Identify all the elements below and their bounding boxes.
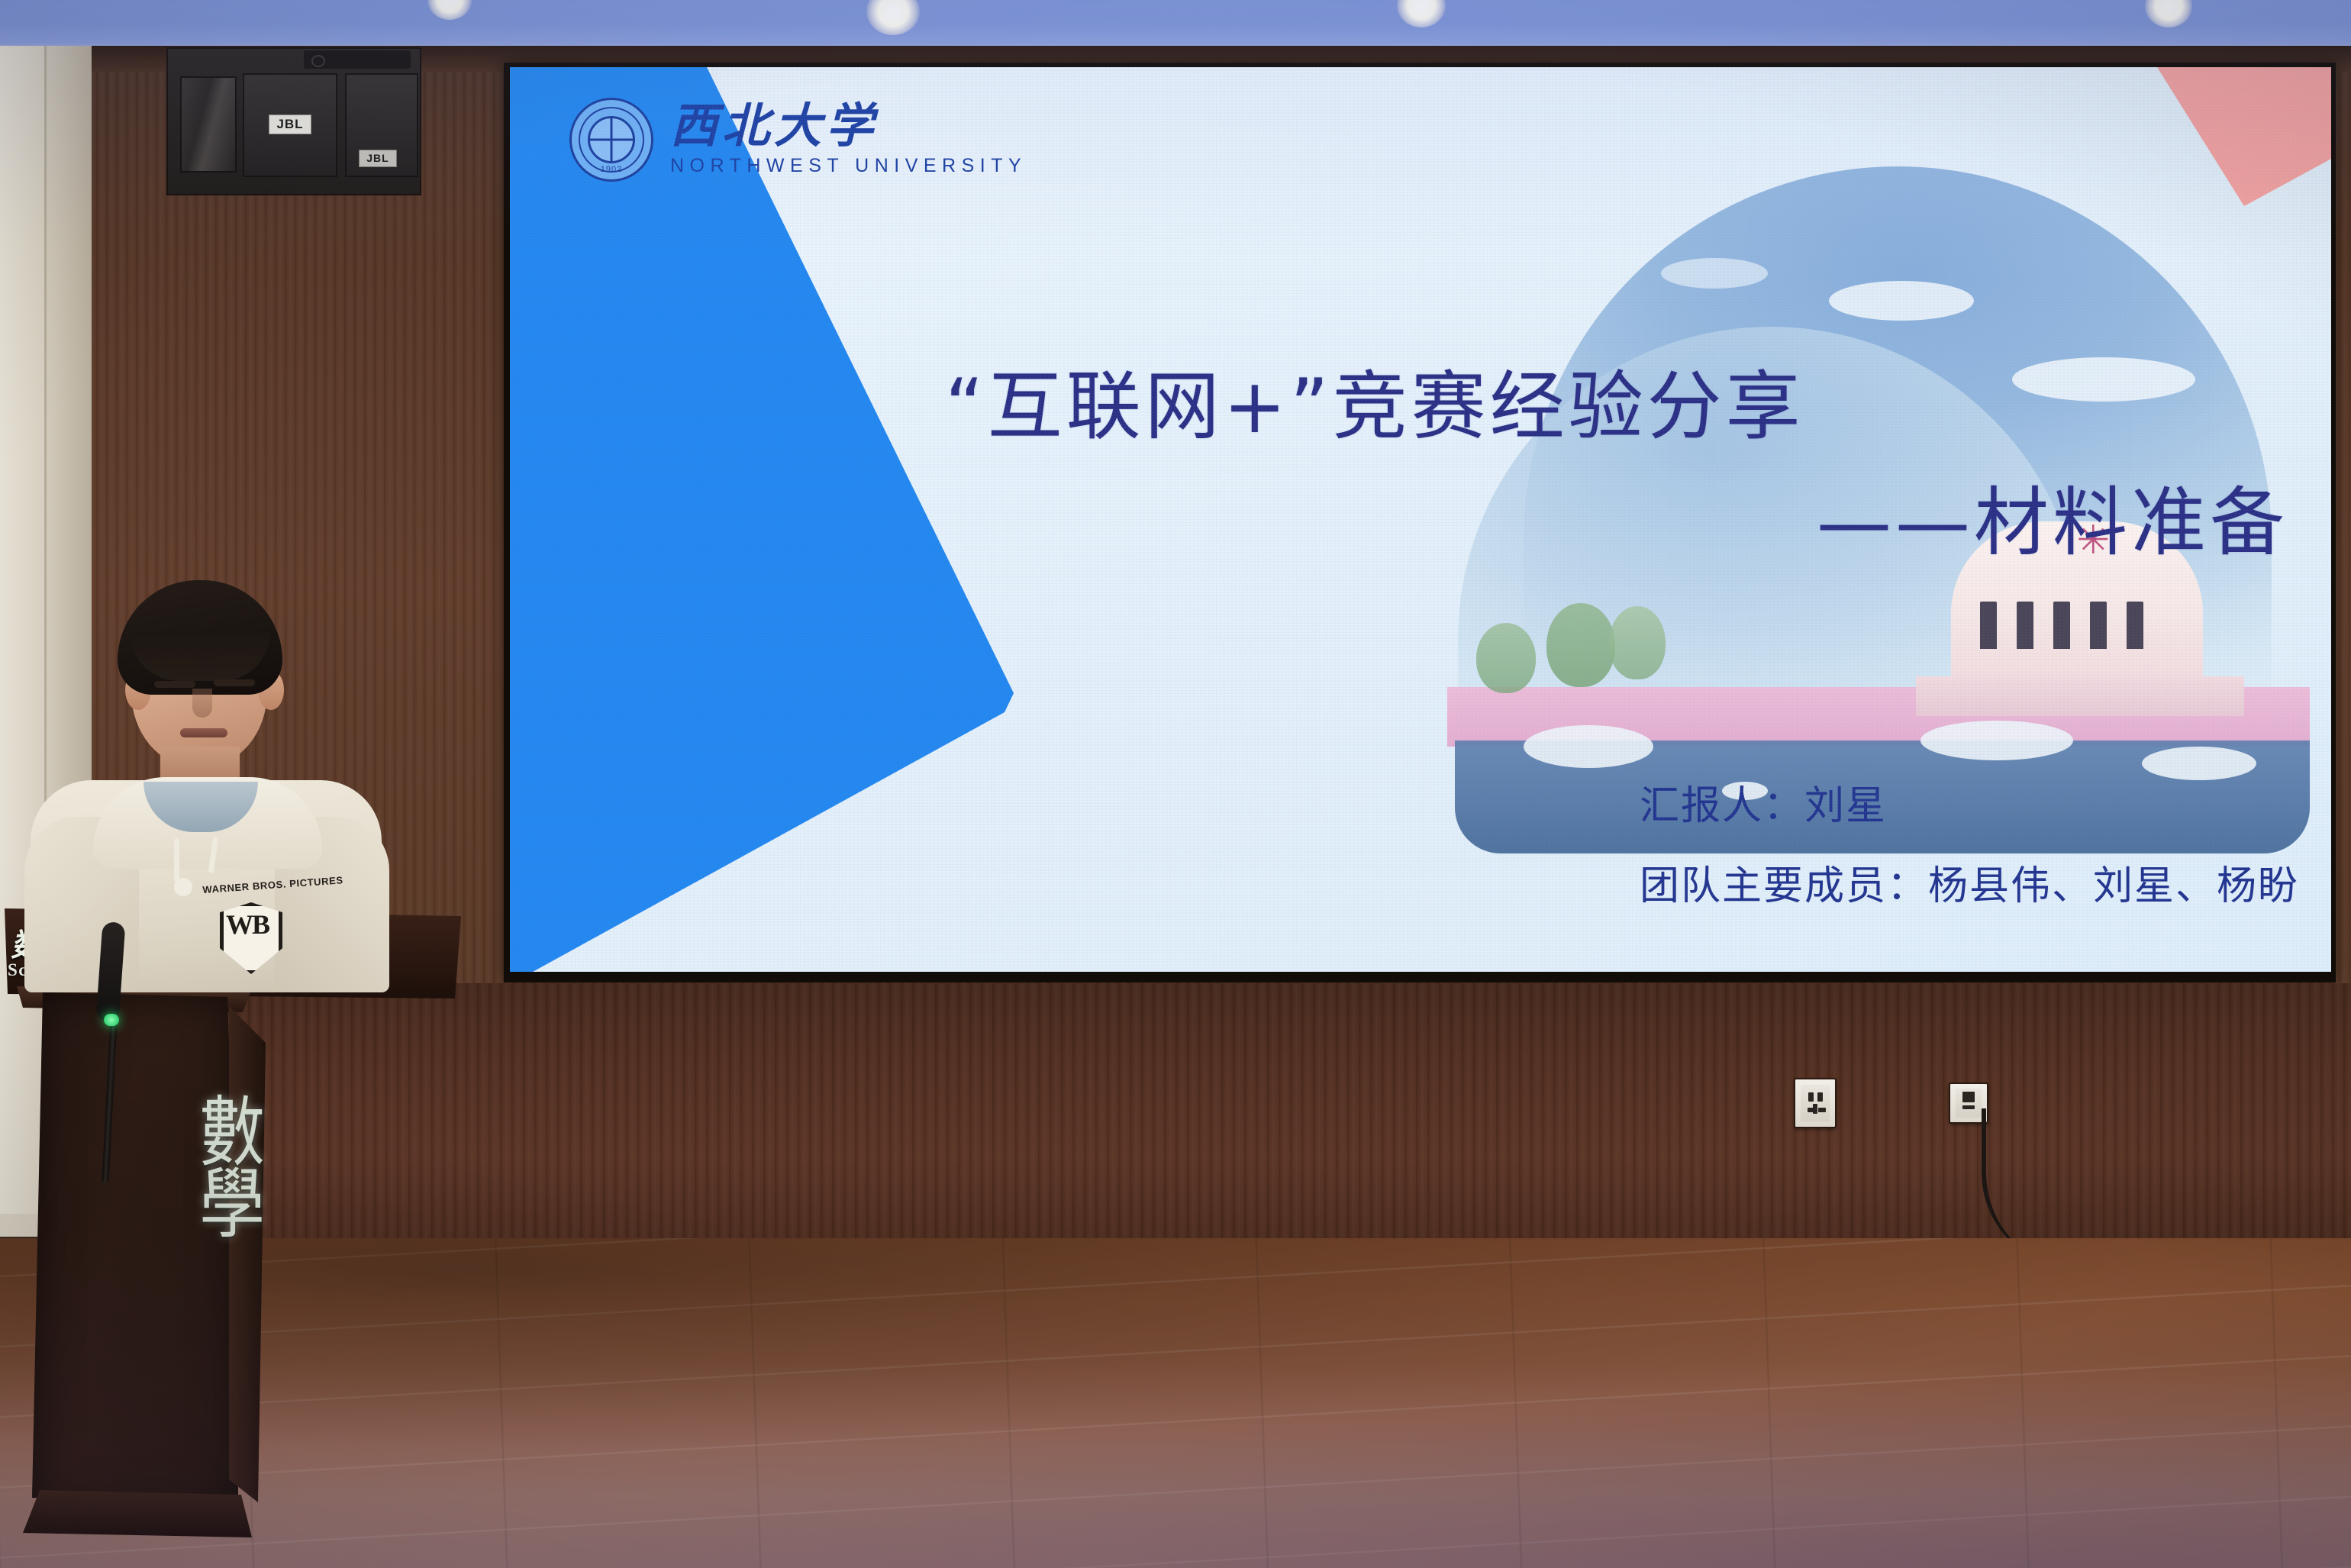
presenter-figure: WARNER BROS. PICTURES WB xyxy=(23,565,389,992)
illustration-foam-1 xyxy=(1524,725,1653,768)
microphone-status-led xyxy=(104,1014,119,1026)
floor-shading xyxy=(0,1238,2351,1568)
presenter-line: 汇报人：刘星 xyxy=(1640,773,1887,831)
university-seal-icon: 1902 xyxy=(569,98,653,182)
illustration-cloud-1 xyxy=(1829,281,1974,321)
illustration-tree-2 xyxy=(1609,606,1666,679)
illustration-tree-3 xyxy=(1476,623,1536,693)
speaker-mount-bracket xyxy=(304,50,411,69)
hoodie-wb-monogram: WB xyxy=(223,908,272,940)
illustration-cloud-3 xyxy=(1661,258,1768,289)
illustration-foam-2 xyxy=(1920,721,2073,760)
illustration-column-5 xyxy=(2127,602,2143,649)
jbl-logo-center: JBL xyxy=(269,115,311,134)
presenter-nose xyxy=(192,689,212,718)
hoodie-drawstring-left xyxy=(174,838,179,882)
jbl-logo-right: JBL xyxy=(359,150,397,167)
university-name-en: NORTHWEST UNIVERSITY xyxy=(670,155,1027,177)
northwest-university-logo: 1902 西北大学 NORTHWEST UNIVERSITY xyxy=(569,98,1027,182)
illustration-column-4 xyxy=(2090,602,2107,649)
projection-screen[interactable]: ✳ 1902 西北大学 NORTHWEST UNIVERSITY “互联网+”竞… xyxy=(510,67,2331,972)
presenter-brow-left xyxy=(151,660,197,669)
presenter-brow-right xyxy=(212,658,258,667)
podium-seal-emblem: 數學 xyxy=(158,1092,256,1298)
illustration-building-base xyxy=(1916,676,2244,716)
power-socket[interactable] xyxy=(1794,1078,1837,1128)
illustration-column-3 xyxy=(2053,602,2070,649)
hoodie-drawstring-knot xyxy=(174,878,192,896)
presenter-eye-left xyxy=(154,681,195,688)
slide-title-line1: “互联网+”竞赛经验分享 xyxy=(945,356,2288,459)
university-name-cn: 西北大学 xyxy=(670,102,1027,150)
illustration-tree-1 xyxy=(1546,603,1615,687)
lecture-hall-photo: JBL JBL ✳ xyxy=(0,0,2351,1568)
speaker-horn-left xyxy=(180,76,237,173)
seal-year: 1902 xyxy=(572,165,651,174)
team-members-line: 团队主要成员：杨县伟、刘星、杨盼 xyxy=(1640,853,2299,911)
illustration-column-1 xyxy=(1980,602,1997,649)
slide-title-line2: ——材料准备 xyxy=(945,472,2288,575)
presenter-eye-right xyxy=(214,679,255,686)
illustration-foam-3 xyxy=(2142,747,2256,780)
illustration-column-2 xyxy=(2017,602,2033,649)
presenter-mouth xyxy=(180,728,227,737)
podium-base xyxy=(23,1490,252,1541)
